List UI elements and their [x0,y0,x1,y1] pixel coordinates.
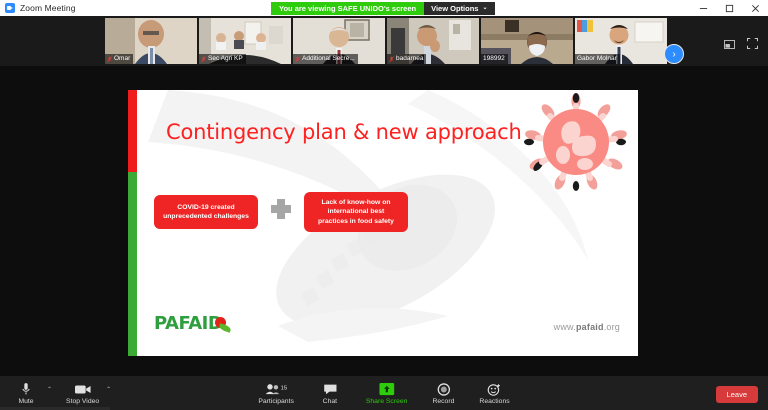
mute-control-group: Mute ⌃ [12,382,52,405]
problem-statement-row: COVID-19 created unprecedented challenge… [154,192,408,232]
chevron-down-icon: ⌄ [482,5,487,11]
record-button[interactable]: Record [429,382,457,405]
participant-thumbnail[interactable]: badarnea [387,18,479,64]
participant-thumbnail[interactable]: Additional Secre... [293,18,385,64]
next-participants-page-button[interactable]: › [664,44,684,64]
share-screen-button[interactable]: Share Screen [366,382,408,405]
zoom-logo-icon [5,3,15,13]
website-suffix: .org [604,322,620,332]
camera-icon [75,382,91,397]
thumbnail-list: Omar [105,18,667,64]
muted-microphone-icon [295,56,300,63]
smiley-reactions-icon [488,382,502,397]
chat-button[interactable]: Chat [316,382,344,405]
close-button[interactable] [742,0,768,16]
knowhow-gap-box: Lack of know-how on international best p… [304,192,408,232]
record-circle-icon [437,382,450,397]
view-options-label: View Options [431,2,478,15]
leave-meeting-button[interactable]: Leave [716,386,758,403]
muted-microphone-icon [389,56,394,63]
participant-name-badge: Sec Agri KP [199,54,246,64]
viewing-screen-banner: You are viewing SAFE UNIDO's screen [271,2,424,15]
knowhow-box-line-2: international best [328,208,385,215]
pafaid-logo-text: PAFAID [154,313,222,334]
toolbar-right-group: Leave [716,384,758,403]
record-label: Record [432,398,454,405]
accent-green-segment [128,172,137,356]
slide-accent-bar [128,90,137,356]
toolbar-left-group: Mute ⌃ Stop Video ⌃ [0,382,111,405]
title-bar-left: Zoom Meeting [0,3,76,13]
title-bar: Zoom Meeting You are viewing SAFE UNIDO'… [0,0,768,16]
mute-button[interactable]: Mute [12,382,40,405]
reactions-button[interactable]: Reactions [479,382,509,405]
minimize-button[interactable] [690,0,716,16]
window-controls [690,0,768,16]
participant-name: badarnea [396,54,423,64]
chat-bubble-icon [323,382,337,397]
mute-label: Mute [18,398,33,405]
website-prefix: www. [554,322,576,332]
accent-red-segment [128,90,137,172]
shared-screen-stage: Contingency plan & new approach [0,66,768,376]
meeting-toolbar: Mute ⌃ Stop Video ⌃ [0,376,768,410]
maximize-button[interactable] [716,0,742,16]
knowhow-box-line-3: practices in food safety [318,218,394,225]
view-options-button[interactable]: View Options ⌄ [424,2,494,15]
reactions-label: Reactions [479,398,509,405]
svg-text:15: 15 [280,385,287,391]
plus-sign-icon [269,195,293,229]
presentation-slide: Contingency plan & new approach [128,90,638,356]
participant-name: 198992 [483,54,505,64]
people-icon: 15 [265,382,287,397]
share-status-area: You are viewing SAFE UNIDO's screen View… [76,0,690,16]
participant-name: Omar [114,54,130,64]
share-screen-icon [379,382,394,397]
website-url: www.pafaid.org [554,322,620,332]
microphone-icon [21,382,31,397]
covid-box-line-2: unprecedented challenges [163,213,249,220]
participant-name-badge: badarnea [387,54,426,64]
coronavirus-illustration [516,92,636,192]
app-title: Zoom Meeting [20,3,76,13]
pafaid-apple-logo [215,317,226,328]
participant-name-badge: Gabor Molnar [575,54,620,64]
participant-name: Gabor Molnar [577,54,617,64]
participant-name-badge: 198992 [481,54,508,64]
share-screen-label: Share Screen [366,398,408,405]
fullscreen-icon[interactable] [747,36,758,54]
zoom-meeting-window: Zoom Meeting You are viewing SAFE UNIDO'… [0,0,768,410]
picture-in-picture-icon[interactable] [724,36,735,54]
video-options-caret-icon[interactable]: ⌃ [106,386,111,393]
covid-challenge-box: COVID-19 created unprecedented challenge… [154,195,258,229]
participants-label: Participants [258,398,294,405]
participant-name-badge: Additional Secre... [293,54,358,64]
video-control-group: Stop Video ⌃ [66,382,111,405]
muted-microphone-icon [201,56,206,63]
slide-title: Contingency plan & new approach [166,120,522,144]
participant-thumbnail-active[interactable]: Gabor Molnar [575,18,667,64]
participant-thumbnail[interactable]: Omar [105,18,197,64]
participant-filmstrip: Omar [0,16,768,66]
chat-label: Chat [323,398,337,405]
participant-name: Additional Secre... [302,54,355,64]
stop-video-label: Stop Video [66,398,99,405]
participants-button[interactable]: 15 Participants [258,382,294,405]
toolbar-center-group: 15 Participants Chat [258,382,509,405]
muted-microphone-icon [107,56,112,63]
participant-thumbnail[interactable]: Sec Agri KP [199,18,291,64]
audio-options-caret-icon[interactable]: ⌃ [47,386,52,393]
covid-box-line-1: COVID-19 created [177,204,234,211]
participant-thumbnail[interactable]: 198992 [481,18,573,64]
pafaid-logo: PAFAID [154,313,226,334]
view-controls [724,36,758,54]
knowhow-box-line-1: Lack of know-how on [321,199,390,206]
participant-name: Sec Agri KP [208,54,243,64]
website-domain: pafaid [576,322,604,332]
participant-name-badge: Omar [105,54,133,64]
stop-video-button[interactable]: Stop Video [66,382,99,405]
